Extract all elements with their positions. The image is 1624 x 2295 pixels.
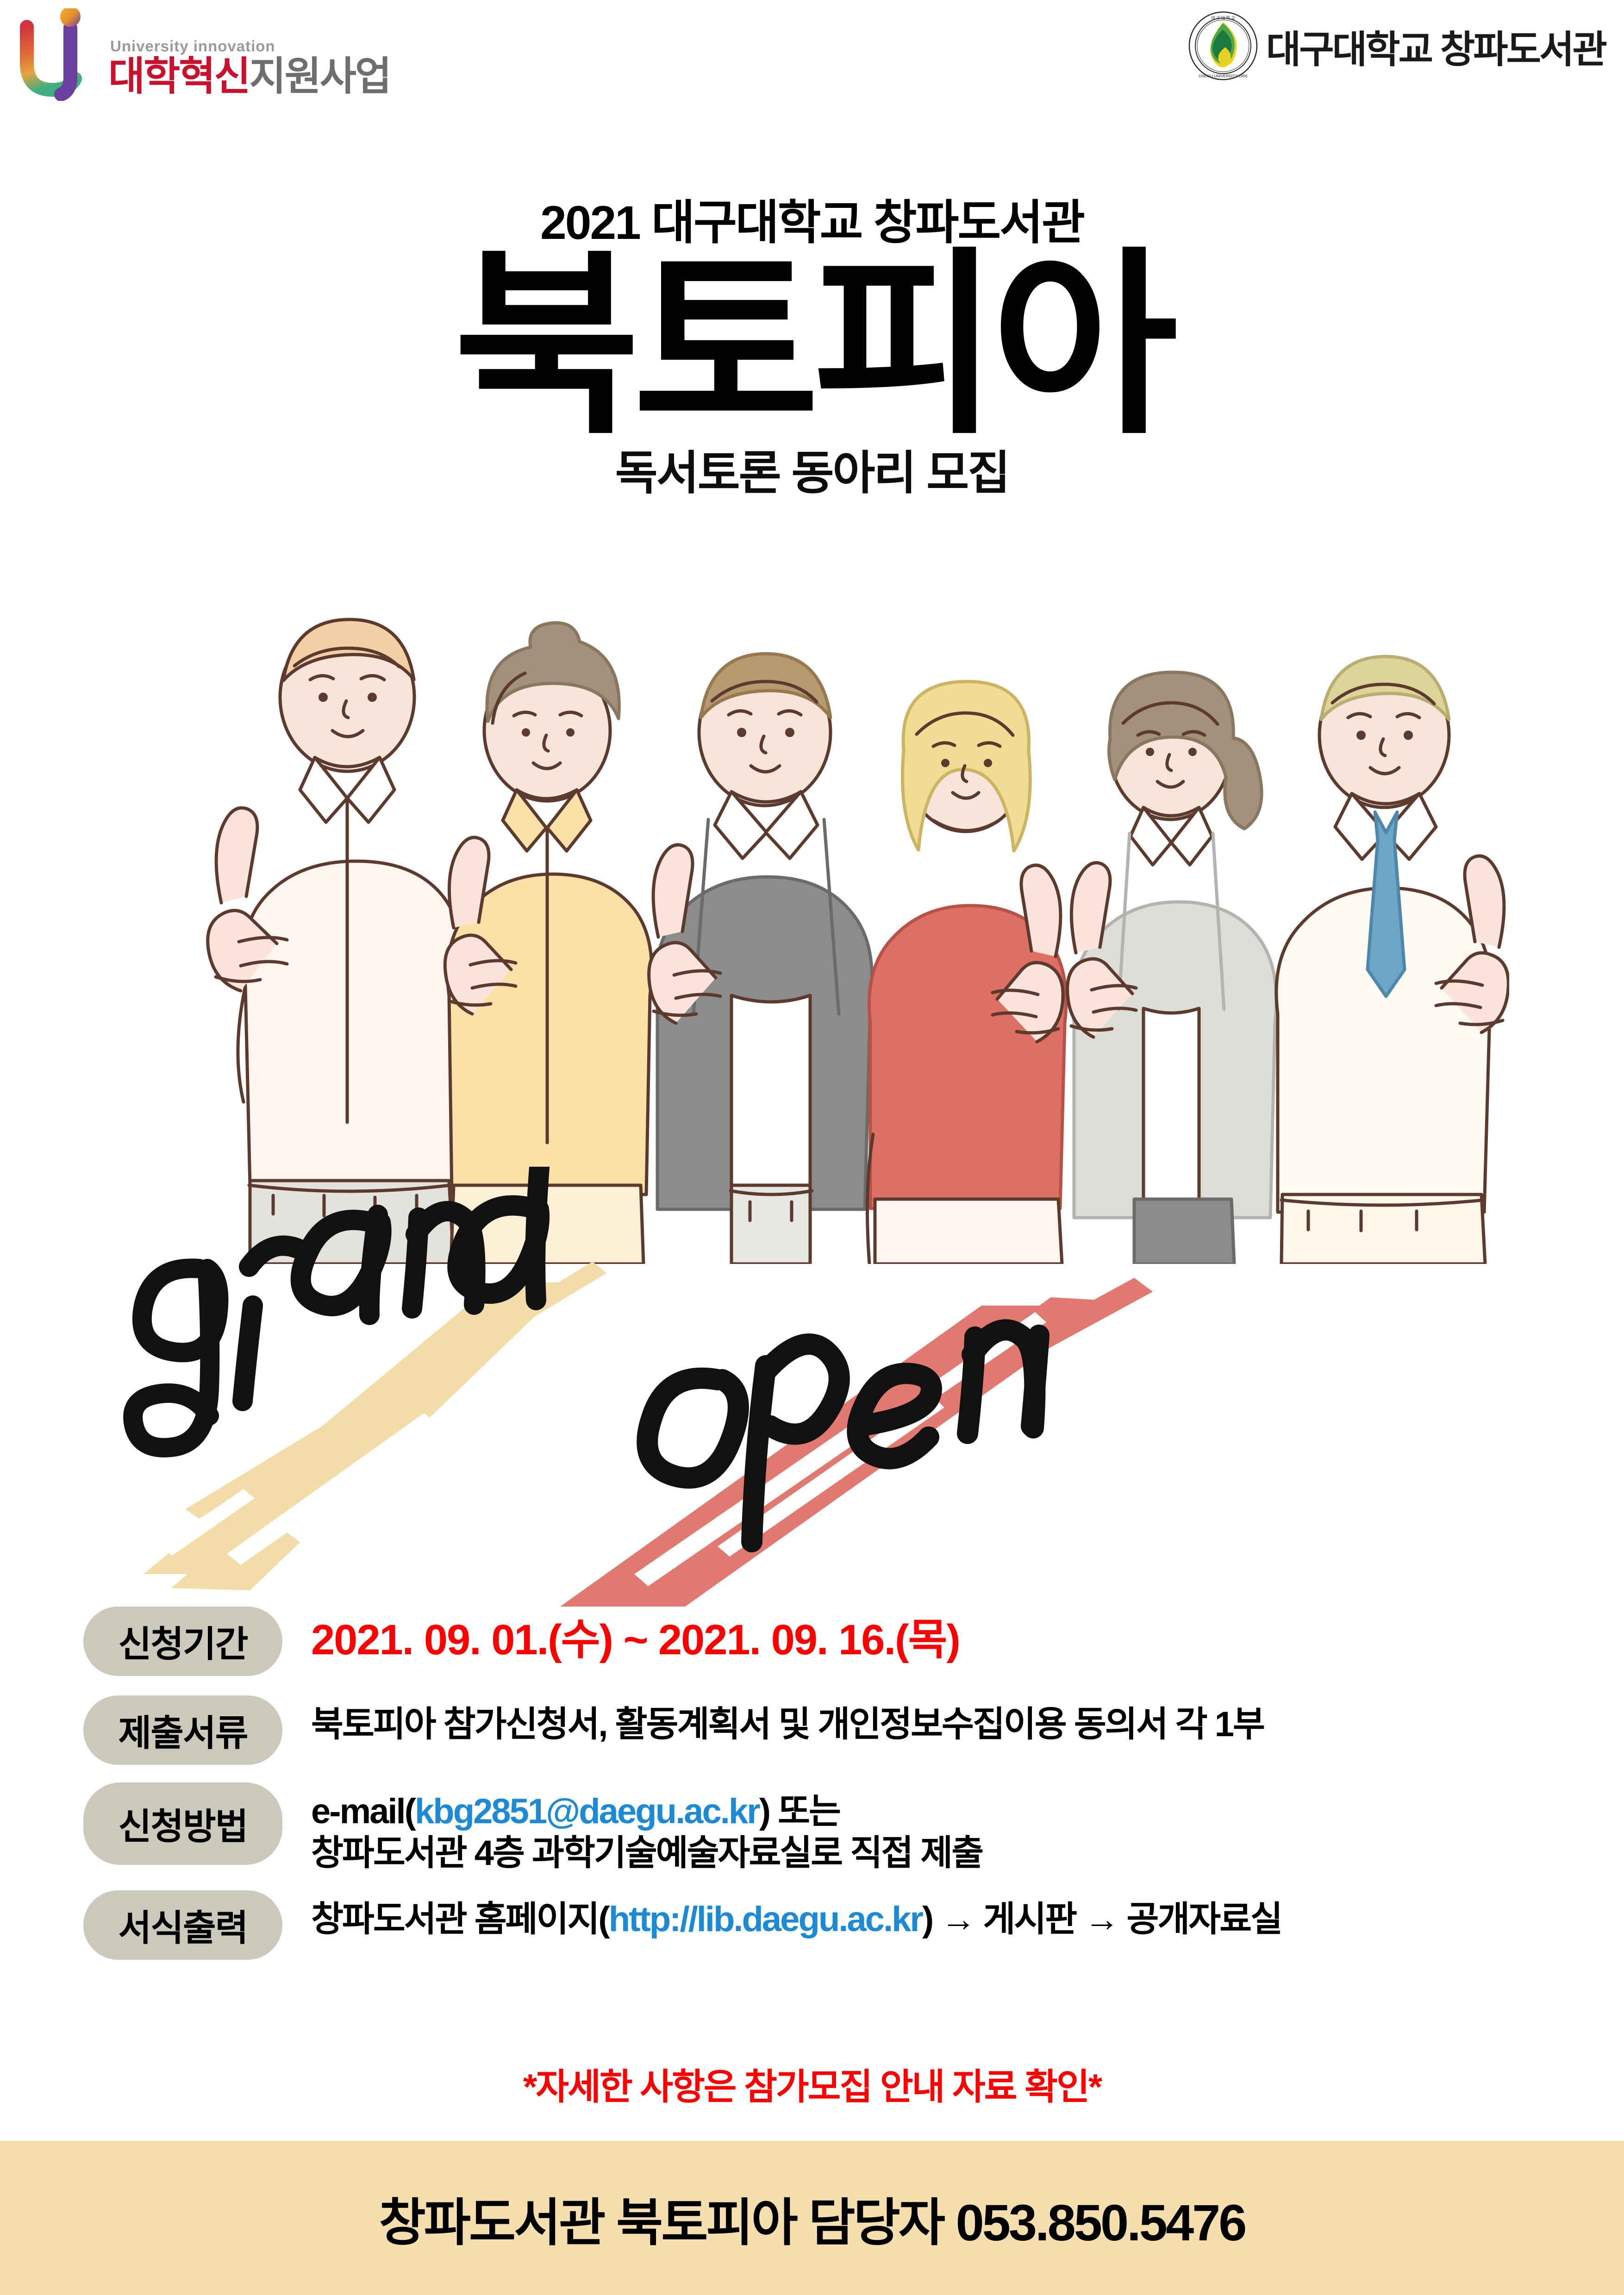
how-to-apply-suffix: ) 또는 — [759, 1792, 840, 1831]
info-row-how-to-apply-text: e-mail(kbg2851@daegu.ac.kr) 또는 창파도서관 4층 … — [282, 1782, 982, 1874]
info-row-application-period-text: 2021. 09. 01.(수) ~ 2021. 09. 16.(목) — [282, 1607, 960, 1665]
ui-logo-korean: 대학혁신지원사업 — [108, 56, 390, 96]
svg-text:대 구 대 학 교: 대 구 대 학 교 — [1211, 16, 1235, 20]
how-to-apply-line1: e-mail(kbg2851@daegu.ac.kr) 또는 — [311, 1791, 982, 1832]
footer-contact-bar: 창파도서관 북토피아 담당자 053.850.5476 — [0, 2141, 1624, 2295]
badge-documents: 제출서류 — [83, 1695, 282, 1765]
six-people-thumbs-up-illustration — [130, 607, 1509, 1264]
documents-value: 북토피아 참가신청서, 활동계획서 및 개인정보수집이용 동의서 각 1부 — [311, 1704, 1264, 1745]
footer-contact-text: 창파도서관 북토피아 담당자 053.850.5476 — [379, 2181, 1245, 2255]
daegu-library-logo: 대 구 대 학 교 DAEGU UNIVERSITY 1956 대구대학교 창파… — [1188, 11, 1605, 81]
info-row-application-period: 신청기간 2021. 09. 01.(수) ~ 2021. 09. 16.(목) — [83, 1607, 1555, 1676]
info-row-documents-text: 북토피아 참가신청서, 활동계획서 및 개인정보수집이용 동의서 각 1부 — [282, 1695, 1264, 1745]
how-to-apply-line2: 창파도서관 4층 과학기술예술자료실로 직접 제출 — [311, 1832, 982, 1874]
ui-logo-korean-gray: 지원사업 — [249, 54, 390, 99]
daegu-university-seal-icon: 대 구 대 학 교 DAEGU UNIVERSITY 1956 — [1188, 11, 1258, 81]
info-row-form-download: 서식출력 창파도서관 홈페이지(http://lib.daegu.ac.kr) … — [83, 1890, 1555, 1960]
application-period-value: 2021. 09. 01.(수) ~ 2021. 09. 16.(목) — [311, 1615, 960, 1665]
form-download-suffix: ) → 게시판 → 공개자료실 — [922, 1900, 1281, 1939]
header-logo-row: University innovation 대학혁신지원사업 대 구 대 학 교… — [0, 0, 1624, 116]
badge-how-to-apply: 신청방법 — [83, 1782, 282, 1865]
library-homepage-link[interactable]: http://lib.daegu.ac.kr — [609, 1900, 922, 1939]
how-to-apply-prefix: e-mail( — [311, 1792, 415, 1831]
form-download-prefix: 창파도서관 홈페이지( — [311, 1900, 609, 1939]
info-row-form-download-text: 창파도서관 홈페이지(http://lib.daegu.ac.kr) → 게시판… — [282, 1890, 1281, 1940]
ui-logo-english: University innovation — [108, 38, 390, 54]
ui-logo-wordmark: University innovation 대학혁신지원사업 — [108, 38, 390, 101]
ui-logo-korean-red: 대학혁신 — [108, 54, 249, 99]
grand-open-brush-art — [116, 1167, 1528, 1607]
svg-text:DAEGU UNIVERSITY 1956: DAEGU UNIVERSITY 1956 — [1199, 74, 1247, 78]
page-title: 북토피아 — [0, 255, 1624, 438]
notice-text: *자세한 사항은 참가모집 안내 자료 확인* — [0, 2058, 1624, 2110]
form-download-line: 창파도서관 홈페이지(http://lib.daegu.ac.kr) → 게시판… — [311, 1899, 1281, 1940]
badge-form-download: 서식출력 — [83, 1890, 282, 1960]
info-section: 신청기간 2021. 09. 01.(수) ~ 2021. 09. 16.(목)… — [83, 1607, 1555, 1966]
badge-application-period: 신청기간 — [83, 1607, 282, 1676]
info-row-documents: 제출서류 북토피아 참가신청서, 활동계획서 및 개인정보수집이용 동의서 각 … — [83, 1695, 1555, 1765]
university-innovation-logo: University innovation 대학혁신지원사업 — [19, 8, 390, 101]
info-row-how-to-apply: 신청방법 e-mail(kbg2851@daegu.ac.kr) 또는 창파도서… — [83, 1782, 1555, 1874]
email-link[interactable]: kbg2851@daegu.ac.kr — [415, 1792, 759, 1831]
daegu-library-name: 대구대학교 창파도서관 — [1266, 19, 1605, 74]
ui-monogram-logo-icon — [19, 8, 102, 101]
title-block: 2021 대구대학교 창파도서관 북토피아 독서토론 동아리 모집 — [0, 199, 1624, 496]
